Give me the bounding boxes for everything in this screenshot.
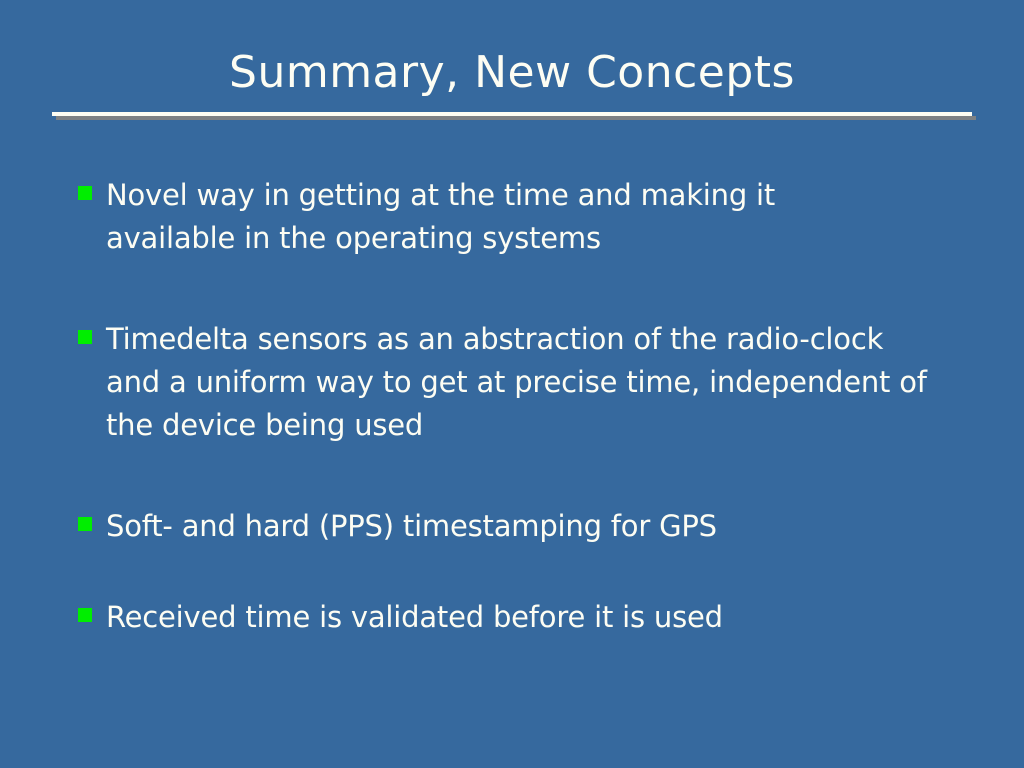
page-title: Summary, New Concepts [0, 48, 1024, 98]
presentation-slide: Summary, New Concepts Novel way in getti… [0, 0, 1024, 768]
list-item-label: Soft- and hard (PPS) timestamping for GP… [106, 505, 956, 548]
list-item: Soft- and hard (PPS) timestamping for GP… [78, 505, 958, 548]
square-bullet-icon [78, 186, 92, 200]
list-item: Received time is validated before it is … [78, 596, 958, 639]
list-item: Novel way in getting at the time and mak… [78, 174, 958, 260]
title-divider-shadow [56, 116, 976, 120]
square-bullet-icon [78, 330, 92, 344]
square-bullet-icon [78, 517, 92, 531]
square-bullet-icon [78, 608, 92, 622]
list-item: Timedelta sensors as an abstraction of t… [78, 318, 958, 447]
list-item-label: Received time is validated before it is … [106, 596, 956, 639]
slide-title-block: Summary, New Concepts [0, 48, 1024, 98]
list-item-label: Novel way in getting at the time and mak… [106, 174, 846, 260]
list-item-label: Timedelta sensors as an abstraction of t… [106, 318, 936, 447]
bullet-list: Novel way in getting at the time and mak… [78, 174, 958, 639]
